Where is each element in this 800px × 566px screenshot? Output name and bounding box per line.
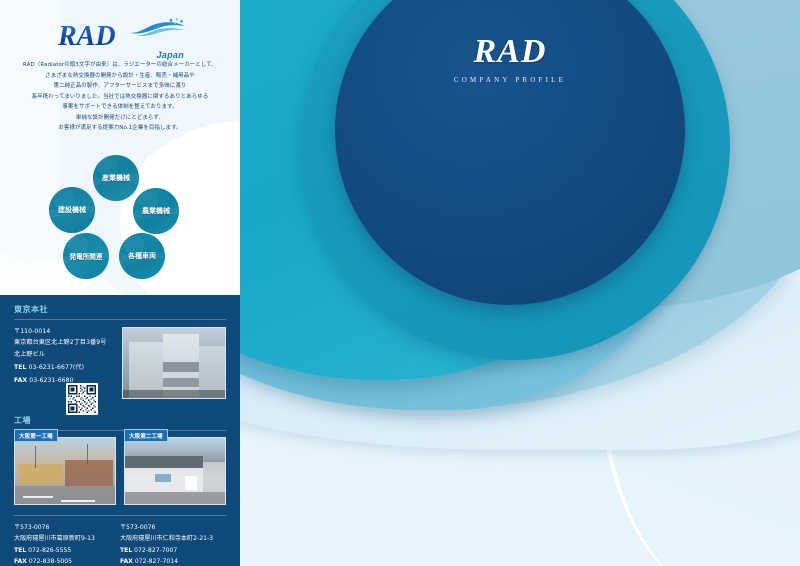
- building-shape: [19, 464, 63, 484]
- fax-label: FAX: [120, 558, 133, 565]
- telephone-row: TEL 03-6231-6677(代): [14, 362, 124, 373]
- plants-title: 工場: [0, 415, 240, 426]
- cover-subtitle: COMPANY PROFILE: [335, 76, 685, 84]
- headquarters-photo: [122, 327, 226, 399]
- telephone-row: TEL 072-826-5555: [14, 545, 120, 556]
- logo-brand-text: RAD: [58, 23, 116, 51]
- qr-code-icon: [68, 385, 96, 413]
- divider: [14, 515, 226, 516]
- plants-block: 工場 大阪第一工場: [0, 415, 240, 431]
- intro-line: 事案をサポートできる体制を整えております。: [10, 102, 230, 113]
- headquarters-address: 〒110-0014 東京都台東区北上野2丁目3番9号 北上野ビル TEL 03-…: [14, 326, 124, 386]
- segment-circle-construction[interactable]: 建設機械: [49, 187, 95, 233]
- logo-region-text: Japan: [156, 50, 184, 60]
- qr-code[interactable]: [66, 383, 98, 415]
- fax-label: FAX: [14, 377, 27, 384]
- postal-code: 〒573-0076: [120, 522, 226, 533]
- street-shape: [123, 390, 226, 399]
- street-address: 東京都台東区北上野2丁目3番9号: [14, 337, 124, 348]
- window-band: [163, 378, 199, 387]
- segment-label: 発電所関連: [70, 251, 103, 261]
- plant-photo: [14, 437, 116, 505]
- plant-addresses: 〒573-0076 大阪府寝屋川市葛原新町9-13 TEL 072-826-55…: [14, 515, 226, 566]
- left-page: RAD Japan RAD（Radiatorの頭3文字が由来）は、ラジエーターの…: [0, 0, 240, 566]
- intro-line: 第二純正品の製作、アフターサービスまで多岐に渡り: [10, 81, 230, 92]
- intro-line: お客様が満足する提案力No.1企業を目指します。: [10, 123, 230, 134]
- segment-label: 建設機械: [58, 205, 86, 215]
- contact-panel: 東京本社 〒110-0014 東京都台東区北上野2丁目3番9号 北上野ビル TE…: [0, 295, 240, 566]
- utility-pole: [87, 444, 88, 464]
- tel-value: 072-827-7007: [134, 547, 177, 554]
- fax-row: FAX 072-827-7014: [120, 556, 226, 566]
- intro-line: さまざまな熱交換器の開発から設計・生産、販売・補用品や: [10, 71, 230, 82]
- building-shape: [65, 460, 113, 486]
- crosswalk-stripe: [23, 496, 53, 498]
- plant-card: 大阪第二工場: [124, 437, 226, 505]
- intro-line: 単純な設計開発だけにとどまらず、: [10, 113, 230, 124]
- brochure-spread: RAD COMPANY PROFILE RAD Japan RAD（Radiat…: [0, 0, 800, 566]
- utility-pole: [35, 446, 36, 468]
- crosswalk-stripe: [61, 500, 95, 502]
- fax-label: FAX: [14, 558, 27, 565]
- segment-label: 産業機械: [102, 173, 130, 183]
- divider: [14, 319, 226, 320]
- headquarters-block: 東京本社 〒110-0014 東京都台東区北上野2丁目3番9号 北上野ビル TE…: [0, 304, 240, 320]
- intro-line: 長年携わってまいりました。当社では熱交換器に関するありとあらゆる: [10, 92, 230, 103]
- segment-circle-power-plant[interactable]: 発電所関連: [63, 233, 109, 279]
- fax-value: 072-838-5005: [29, 558, 72, 565]
- plant-address-block: 〒573-0076 大阪府寝屋川市仁和寺本町2-21-3 TEL 072-827…: [120, 522, 226, 566]
- plant-photos: 大阪第一工場 大阪第二工場: [14, 437, 226, 505]
- telephone-row: TEL 072-827-7007: [120, 545, 226, 556]
- plant-card: 大阪第一工場: [14, 437, 116, 505]
- roof-shape: [125, 456, 203, 468]
- tel-label: TEL: [14, 364, 27, 371]
- plant-address-block: 〒573-0076 大阪府寝屋川市葛原新町9-13 TEL 072-826-55…: [14, 522, 120, 566]
- swoosh-icon: [128, 18, 186, 38]
- segment-circle-vehicles[interactable]: 各種車両: [119, 233, 165, 279]
- building-name: 北上野ビル: [14, 349, 124, 360]
- company-intro-text: RAD（Radiatorの頭3文字が由来）は、ラジエーターの総合メーカーとして、…: [10, 60, 230, 134]
- cover-panel: RAD COMPANY PROFILE: [240, 0, 800, 566]
- plant-photo: [124, 437, 226, 505]
- street-address: 大阪府寝屋川市仁和寺本町2-21-3: [120, 533, 226, 544]
- fax-value: 072-827-7014: [135, 558, 178, 565]
- rad-japan-logo: RAD Japan: [58, 12, 186, 58]
- segment-label: 各種車両: [128, 251, 156, 261]
- segment-circle-agriculture[interactable]: 農業機械: [133, 188, 179, 234]
- truck-shape: [185, 476, 197, 490]
- tel-label: TEL: [120, 547, 132, 554]
- market-segments: 産業機械 建設機械 農業機械 発電所関連 各種車両: [45, 155, 225, 280]
- tel-label: TEL: [14, 547, 26, 554]
- tel-value: 03-6231-6677(代): [29, 364, 85, 371]
- cover-logo-text: RAD: [335, 35, 685, 69]
- window-band: [163, 362, 199, 372]
- intro-line: RAD（Radiatorの頭3文字が由来）は、ラジエーターの総合メーカーとして、: [10, 60, 230, 71]
- postal-code: 〒110-0014: [14, 326, 124, 337]
- plant-name-tab: 大阪第二工場: [124, 429, 168, 442]
- road-shape: [125, 492, 226, 505]
- plant-name-tab: 大阪第一工場: [14, 429, 58, 442]
- postal-code: 〒573-0076: [14, 522, 120, 533]
- fax-row: FAX 072-838-5005: [14, 556, 120, 566]
- cover-branding: RAD COMPANY PROFILE: [335, 35, 685, 84]
- segment-label: 農業機械: [142, 206, 170, 216]
- signage: [155, 474, 171, 482]
- street-address: 大阪府寝屋川市葛原新町9-13: [14, 533, 120, 544]
- building-shape: [203, 462, 226, 492]
- headquarters-title: 東京本社: [0, 304, 240, 315]
- tel-value: 072-826-5555: [28, 547, 71, 554]
